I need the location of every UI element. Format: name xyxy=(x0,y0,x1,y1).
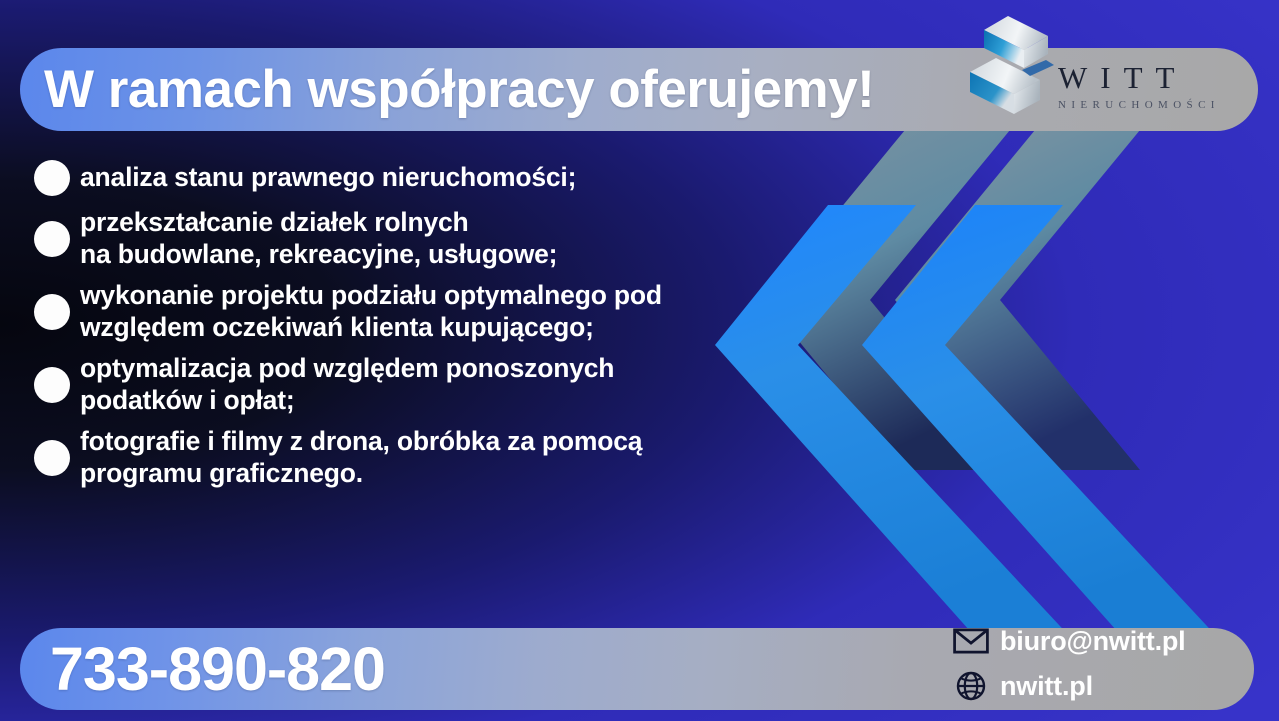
globe-icon xyxy=(950,669,992,703)
page-title: W ramach współpracy oferujemy! xyxy=(44,59,874,120)
offer-list: analiza stanu prawnego nieruchomości; pr… xyxy=(34,160,794,499)
chevron-muted-back xyxy=(895,130,1140,470)
contact-block: biuro@nwitt.pl nwitt.pl xyxy=(950,620,1186,707)
chevron-bright-right xyxy=(862,205,1220,640)
bullet-dot-icon xyxy=(34,160,70,196)
header-banner: W ramach współpracy oferujemy! xyxy=(20,48,1258,131)
list-item: fotografie i filmy z drona, obróbka za p… xyxy=(34,426,794,489)
chevron-muted-front xyxy=(765,130,1010,470)
list-item: optymalizacja pod względem ponoszonychpo… xyxy=(34,353,794,416)
contact-website-row[interactable]: nwitt.pl xyxy=(950,665,1186,707)
promo-poster: W ramach współpracy oferujemy! xyxy=(0,0,1279,721)
list-item-label: przekształcanie działek rolnychna budowl… xyxy=(80,207,557,270)
phone-number[interactable]: 733-890-820 xyxy=(50,634,385,704)
list-item: przekształcanie działek rolnychna budowl… xyxy=(34,207,794,270)
list-item-label: wykonanie projektu podziału optymalnego … xyxy=(80,280,662,343)
list-item: analiza stanu prawnego nieruchomości; xyxy=(34,160,794,196)
list-item-label: fotografie i filmy z drona, obróbka za p… xyxy=(80,426,642,489)
bullet-dot-icon xyxy=(34,367,70,403)
envelope-icon xyxy=(950,624,992,658)
list-item: wykonanie projektu podziału optymalnego … xyxy=(34,280,794,343)
bullet-dot-icon xyxy=(34,221,70,257)
website-value: nwitt.pl xyxy=(1000,671,1093,702)
bullet-dot-icon xyxy=(34,440,70,476)
contact-email-row[interactable]: biuro@nwitt.pl xyxy=(950,620,1186,662)
bullet-dot-icon xyxy=(34,294,70,330)
list-item-label: analiza stanu prawnego nieruchomości; xyxy=(80,162,576,194)
list-item-label: optymalizacja pod względem ponoszonychpo… xyxy=(80,353,614,416)
email-value: biuro@nwitt.pl xyxy=(1000,626,1186,657)
